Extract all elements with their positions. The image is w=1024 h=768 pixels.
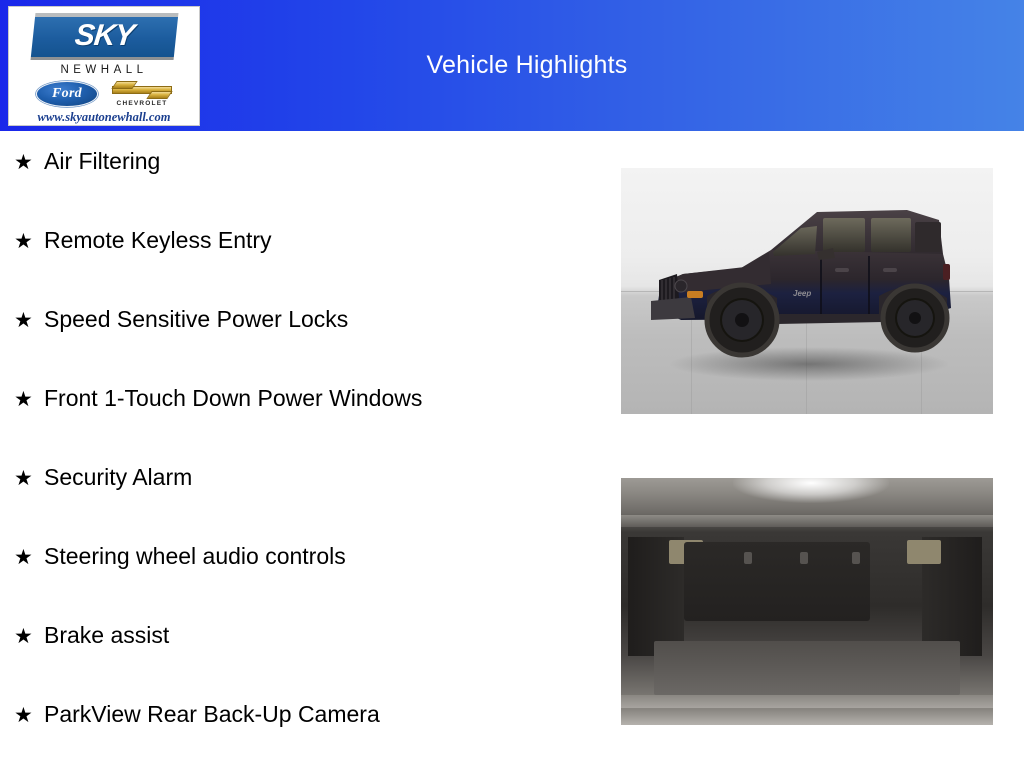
star-icon: ★ xyxy=(14,152,44,173)
list-item-label: ParkView Rear Back-Up Camera xyxy=(44,703,380,726)
rear-seatback xyxy=(684,542,870,621)
star-icon: ★ xyxy=(14,310,44,331)
tailgate-sill xyxy=(621,695,993,707)
list-item-label: Security Alarm xyxy=(44,466,192,489)
list-item: ★ ParkView Rear Back-Up Camera xyxy=(0,703,600,768)
dealer-website-label[interactable]: www.skyautonewhall.com xyxy=(38,110,171,125)
rear-headrest-right xyxy=(907,540,940,565)
ford-logo-label: Ford xyxy=(52,86,82,102)
vehicle-exterior-photo[interactable]: Jeep xyxy=(621,168,993,414)
sky-brand-label: SKY xyxy=(73,19,135,53)
list-item: ★ Front 1-Touch Down Power Windows xyxy=(0,387,600,466)
list-item-label: Front 1-Touch Down Power Windows xyxy=(44,387,422,410)
chevrolet-bowtie-icon xyxy=(112,80,172,99)
chevrolet-logo-icon: CHEVROLET xyxy=(112,80,172,107)
list-item-label: Steering wheel audio controls xyxy=(44,545,346,568)
bowtie-bar-right xyxy=(146,91,172,99)
vehicle-highlights-list: ★ Air Filtering ★ Remote Keyless Entry ★… xyxy=(0,150,600,768)
star-icon: ★ xyxy=(14,231,44,252)
list-item: ★ Security Alarm xyxy=(0,466,600,545)
slide-root: Vehicle Highlights SKY NEWHALL Ford CHEV… xyxy=(0,0,1024,768)
rear-wheel xyxy=(882,285,948,351)
light-glare xyxy=(733,478,889,503)
list-item: ★ Brake assist xyxy=(0,624,600,703)
dealer-logo[interactable]: SKY NEWHALL Ford CHEVROLET www.skyautone… xyxy=(8,6,200,126)
franchise-logos-row: Ford CHEVROLET xyxy=(9,80,199,107)
list-item-label: Speed Sensitive Power Locks xyxy=(44,308,348,331)
star-icon: ★ xyxy=(14,626,44,647)
front-wheel xyxy=(706,284,778,356)
star-icon: ★ xyxy=(14,389,44,410)
cargo-tie-down-clip xyxy=(852,552,860,564)
vehicle-cargo-area-photo[interactable] xyxy=(621,478,993,725)
chevrolet-logo-label: CHEVROLET xyxy=(117,100,168,107)
tailgate-frame-top xyxy=(621,515,993,527)
star-icon: ★ xyxy=(14,705,44,726)
list-item: ★ Speed Sensitive Power Locks xyxy=(0,308,600,387)
jeep-wrangler-illustration: Jeep xyxy=(621,168,993,414)
star-icon: ★ xyxy=(14,547,44,568)
list-item-label: Air Filtering xyxy=(44,150,160,173)
dealer-location-label: NEWHALL xyxy=(60,64,147,76)
sky-brand-plate: SKY xyxy=(33,13,176,59)
list-item: ★ Remote Keyless Entry xyxy=(0,229,600,308)
list-item-label: Remote Keyless Entry xyxy=(44,229,272,252)
list-item: ★ Steering wheel audio controls xyxy=(0,545,600,624)
svg-text:Jeep: Jeep xyxy=(793,289,811,298)
ford-logo-icon: Ford xyxy=(36,81,98,107)
star-icon: ★ xyxy=(14,468,44,489)
cargo-tie-down-clip xyxy=(800,552,808,564)
cargo-load-floor xyxy=(654,641,959,695)
list-item-label: Brake assist xyxy=(44,624,169,647)
cargo-tie-down-clip xyxy=(744,552,752,564)
list-item: ★ Air Filtering xyxy=(0,150,600,229)
